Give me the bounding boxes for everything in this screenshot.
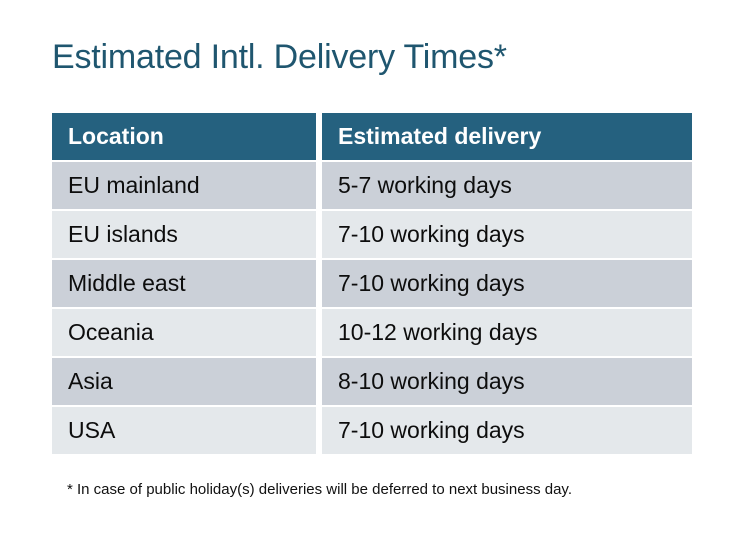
cell-delivery: 7-10 working days xyxy=(322,260,692,307)
table-row: USA 7-10 working days xyxy=(52,407,692,454)
footnote-text: * In case of public holiday(s) deliverie… xyxy=(67,479,572,501)
estimated-delivery-times-table: Location Estimated delivery EU mainland … xyxy=(52,113,692,456)
cell-location: Middle east xyxy=(52,260,316,307)
column-header-location: Location xyxy=(52,113,316,160)
table-row: EU islands 7-10 working days xyxy=(52,211,692,258)
page-title: Estimated Intl. Delivery Times* xyxy=(52,36,507,78)
table-header-row: Location Estimated delivery xyxy=(52,113,692,160)
table-row: Middle east 7-10 working days xyxy=(52,260,692,307)
cell-location: EU mainland xyxy=(52,162,316,209)
table-row: Oceania 10-12 working days xyxy=(52,309,692,356)
cell-delivery: 5-7 working days xyxy=(322,162,692,209)
cell-location: Asia xyxy=(52,358,316,405)
cell-location: Oceania xyxy=(52,309,316,356)
cell-delivery: 7-10 working days xyxy=(322,407,692,454)
table-row: Asia 8-10 working days xyxy=(52,358,692,405)
cell-location: USA xyxy=(52,407,316,454)
delivery-times-page: Estimated Intl. Delivery Times* Location… xyxy=(0,0,745,536)
cell-location: EU islands xyxy=(52,211,316,258)
column-header-estimated-delivery: Estimated delivery xyxy=(322,113,692,160)
cell-delivery: 10-12 working days xyxy=(322,309,692,356)
cell-delivery: 7-10 working days xyxy=(322,211,692,258)
cell-delivery: 8-10 working days xyxy=(322,358,692,405)
table-row: EU mainland 5-7 working days xyxy=(52,162,692,209)
